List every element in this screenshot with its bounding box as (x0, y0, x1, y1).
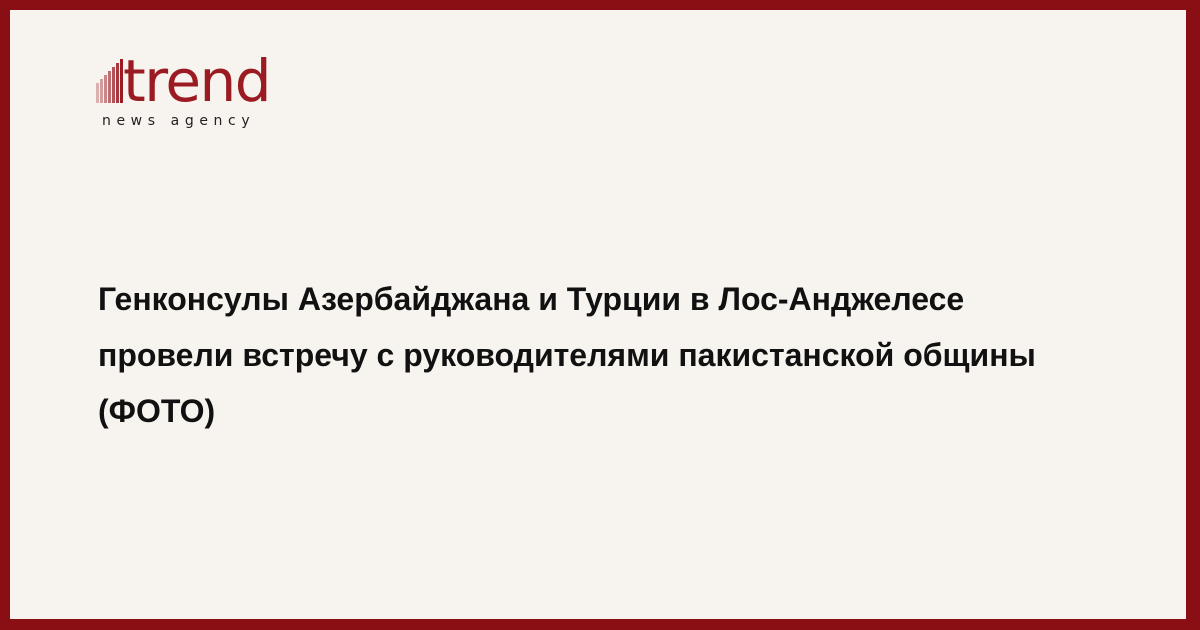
bar-chart-building-icon (96, 57, 123, 104)
logo-tagline: news agency (102, 113, 426, 129)
logo-mark-row: trend (96, 48, 426, 104)
logo-wordmark: trend (123, 58, 270, 104)
brand-logo[interactable]: trend news agency (96, 48, 426, 129)
card-canvas: trend news agency Генконсулы Азербайджан… (10, 10, 1186, 619)
page-title: Генконсулы Азербайджана и Турции в Лос-А… (98, 271, 1108, 439)
social-share-card: trend news agency Генконсулы Азербайджан… (0, 0, 1200, 630)
